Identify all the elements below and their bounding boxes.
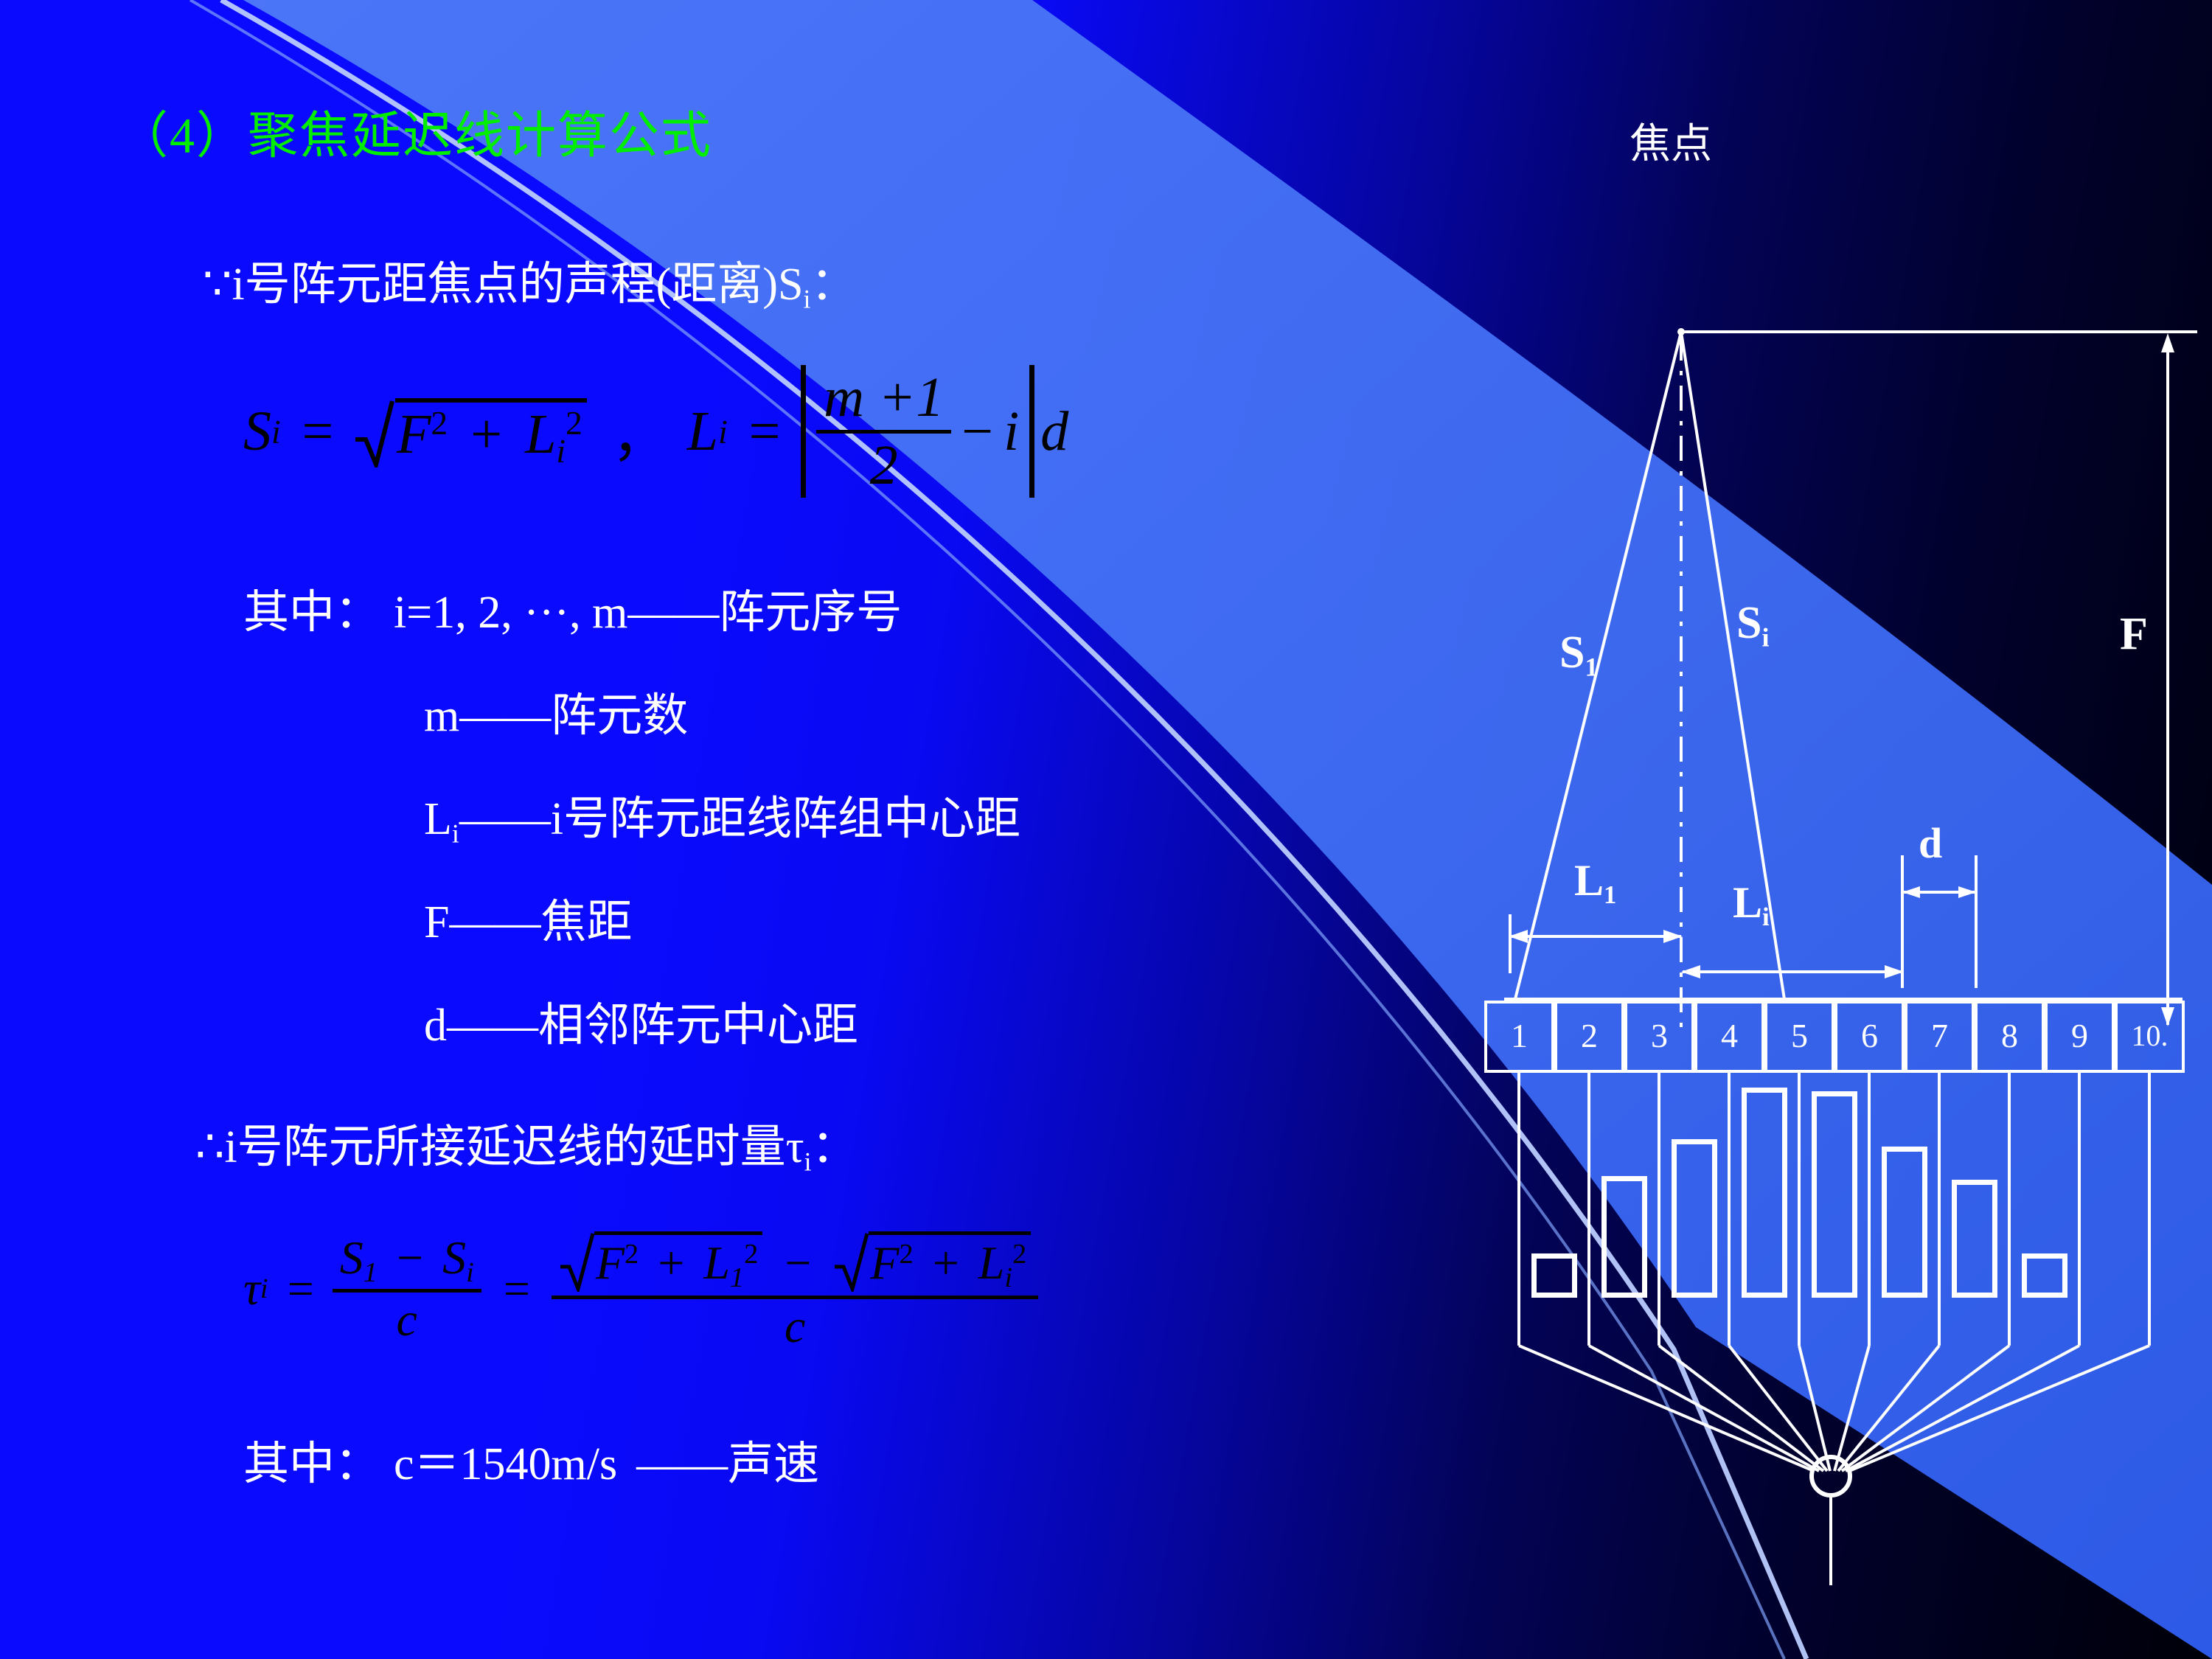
- tau-fraction-1: S1 − Si c: [333, 1231, 481, 1347]
- l1-label-sub: 1: [1604, 880, 1616, 909]
- tau-equals-2: =: [481, 1262, 552, 1316]
- array-element-1[interactable]: 1: [1484, 1001, 1554, 1073]
- d-label: d: [1919, 818, 1942, 868]
- si-plus: +: [462, 403, 511, 465]
- array-element-5[interactable]: 5: [1764, 1001, 1834, 1073]
- l1-label-text: L: [1574, 856, 1604, 905]
- s1-label-text: S: [1559, 627, 1585, 678]
- si-rad-a: F: [397, 403, 431, 465]
- tau-f2d-var: L: [978, 1237, 1005, 1289]
- where-item-3: F——焦距: [424, 897, 632, 947]
- s1-label: S1: [1559, 627, 1598, 683]
- tau-f2c-pow: 2: [900, 1239, 914, 1270]
- si-rad-b: L: [525, 403, 556, 465]
- array-element-9[interactable]: 9: [2045, 1001, 2115, 1073]
- conclusion-line: ∴i号阵元所接延迟线的延时量τi：: [195, 1124, 858, 1175]
- li-frac-numerator: m +1: [816, 366, 951, 430]
- where-item-2-sub: i: [452, 819, 459, 849]
- tau-f2-denominator: c: [552, 1295, 1038, 1354]
- premise-text: ∵i号阵元距焦点的声程(距离)S: [203, 260, 803, 310]
- array-element-6[interactable]: 6: [1834, 1001, 1905, 1073]
- li-label-text: L: [1733, 878, 1762, 927]
- radical-sign-icon: [559, 1230, 597, 1292]
- tau-f2d-sub: i: [1004, 1262, 1012, 1293]
- premise-subscript: i: [803, 285, 810, 314]
- where-line-1: 其中：i=1, 2, ···, m——阵元序号: [243, 590, 902, 636]
- where-item-0: i=1, 2, ···, m——阵元序号: [380, 588, 902, 638]
- tau-f2b-var: L: [703, 1237, 730, 1289]
- tau-radical-1: F2 + L12: [559, 1224, 762, 1295]
- li-minus: −: [951, 400, 1004, 464]
- li-tail: d: [1034, 400, 1068, 464]
- formula-tau: τi = S1 − Si c =: [243, 1224, 1038, 1354]
- si-label: Si: [1736, 597, 1769, 653]
- tau-f2c-var: F: [870, 1237, 899, 1289]
- tau-radical-2: F2 + Li2: [833, 1224, 1031, 1295]
- li-label-sub: i: [1762, 902, 1770, 931]
- radical-bar: [594, 1231, 762, 1235]
- tau-f2-minus: −: [774, 1237, 821, 1289]
- li-equals: =: [728, 400, 801, 464]
- delay-line-box-7[interactable]: [1952, 1180, 1997, 1298]
- where-item-4: d——相邻阵元中心距: [424, 1001, 858, 1051]
- where-line-5: d——相邻阵元中心距: [424, 1003, 858, 1048]
- tau-f1-denominator: c: [333, 1289, 481, 1347]
- delay-line-box-4[interactable]: [1742, 1088, 1787, 1298]
- tau-f1-si-sub: i: [466, 1257, 474, 1288]
- si-lhs-sub: i: [271, 412, 281, 451]
- delay-line-box-1[interactable]: [1531, 1253, 1577, 1298]
- tau-f1-s1: S: [340, 1231, 364, 1284]
- li-fraction: m +1 2: [816, 366, 951, 498]
- sound-speed-note: ——声速: [617, 1439, 819, 1489]
- premise-line: ∵i号阵元距焦点的声程(距离)Si：: [203, 262, 856, 313]
- page-title: （4）聚焦延迟线计算公式: [118, 111, 712, 161]
- si-equals: =: [281, 400, 354, 464]
- array-element-4[interactable]: 4: [1694, 1001, 1764, 1073]
- summing-node: [1812, 1457, 1850, 1495]
- si-rad-b-pow: 2: [566, 404, 582, 442]
- where-line-4: F——焦距: [424, 900, 632, 945]
- where-label: 其中：: [243, 588, 380, 638]
- si-label-text: S: [1736, 598, 1761, 648]
- array-element-8[interactable]: 8: [1975, 1001, 2045, 1073]
- tau-f2-plus-2: +: [925, 1237, 967, 1289]
- radical-sign-icon: [833, 1230, 872, 1292]
- f-label: F: [2120, 608, 2148, 661]
- delay-line-box-6[interactable]: [1882, 1147, 1927, 1298]
- array-element-7[interactable]: 7: [1905, 1001, 1975, 1073]
- conclusion-text: ∴i号阵元所接延迟线的延时量τ: [195, 1122, 804, 1172]
- l1-label: L1: [1574, 855, 1616, 910]
- delay-line-box-2[interactable]: [1601, 1176, 1647, 1298]
- tau-f1-minus: −: [389, 1231, 431, 1284]
- formula-si: Si = F2 + Li2 ， Li = m +1: [243, 365, 1068, 498]
- sound-speed-value: c＝1540m/s: [380, 1439, 617, 1489]
- si-rad-a-pow: 2: [431, 404, 448, 442]
- conclusion-subscript: i: [804, 1147, 812, 1177]
- focusing-delay-diagram: 焦点 S1 Si F d L1 Li 12345678910.: [1460, 206, 2197, 1585]
- radical-bar: [395, 398, 587, 403]
- tau-f2a-var: F: [596, 1237, 625, 1289]
- delay-line-box-3[interactable]: [1672, 1139, 1717, 1298]
- tau-f2b-pow: 2: [744, 1239, 758, 1270]
- tau-fraction-2: F2 + L12 − F2 + Li2: [552, 1224, 1038, 1354]
- where-item-1: m——阵元数: [424, 691, 688, 741]
- si-rad-b-sub: i: [556, 432, 566, 470]
- array-element-2[interactable]: 2: [1554, 1001, 1624, 1073]
- radical-bar: [869, 1231, 1031, 1235]
- sound-speed-label: 其中：: [243, 1439, 380, 1489]
- abs-bar-left: [801, 365, 806, 498]
- li-lhs: L: [687, 400, 718, 464]
- array-element-3[interactable]: 3: [1624, 1001, 1694, 1073]
- tau-f1-numerator: S1 − Si: [333, 1231, 481, 1289]
- radical-sign-icon: [354, 397, 398, 467]
- li-label: Li: [1733, 877, 1770, 932]
- tau-f2-plus: +: [650, 1237, 692, 1289]
- focus-label: 焦点: [1630, 111, 1712, 170]
- where-item-2: ——i号阵元距线阵组中心距: [459, 794, 1020, 844]
- diagram-vectors: [1460, 206, 2197, 1585]
- si-label-sub: i: [1761, 623, 1769, 653]
- li-minus-var: i: [1004, 400, 1019, 464]
- sound-speed-line: 其中：c＝1540m/s——声速: [243, 1441, 819, 1487]
- tau-f1-s1-sub: 1: [364, 1257, 378, 1288]
- tau-f2-numerator: F2 + L12 − F2 + Li2: [552, 1224, 1038, 1295]
- conclusion-colon: ：: [812, 1122, 858, 1172]
- si-radical: F2 + Li2: [354, 389, 587, 473]
- s1-label-sub: 1: [1585, 653, 1598, 682]
- li-frac-denominator: 2: [816, 430, 951, 498]
- slide-canvas: （4）聚焦延迟线计算公式 ∵i号阵元距焦点的声程(距离)Si： Si = F2 …: [0, 0, 2212, 1659]
- tau-f2a-pow: 2: [625, 1239, 639, 1270]
- tau-f2b-sub: 1: [730, 1262, 744, 1293]
- where-item-2-prefix: L: [424, 794, 452, 844]
- tau-f1-si: S: [442, 1231, 466, 1284]
- tau-equals-1: =: [268, 1262, 333, 1316]
- abs-bar-right: [1029, 365, 1034, 498]
- array-element-10[interactable]: 10.: [2115, 1001, 2185, 1073]
- delay-line-box-8[interactable]: [2022, 1253, 2067, 1298]
- delay-line-box-5[interactable]: [1812, 1091, 1857, 1298]
- tau-f2d-pow: 2: [1012, 1239, 1026, 1270]
- si-lhs: S: [243, 400, 271, 464]
- si-comma: ，: [587, 391, 687, 472]
- li-lhs-sub: i: [718, 412, 728, 451]
- where-line-3: Li——i号阵元距线阵组中心距: [424, 796, 1020, 847]
- tau-lhs: τ: [243, 1262, 260, 1316]
- tau-lhs-sub: i: [260, 1273, 268, 1305]
- premise-colon: ：: [810, 260, 856, 310]
- where-line-2: m——阵元数: [424, 693, 688, 739]
- li-abs-group: m +1 2 − i: [801, 365, 1034, 498]
